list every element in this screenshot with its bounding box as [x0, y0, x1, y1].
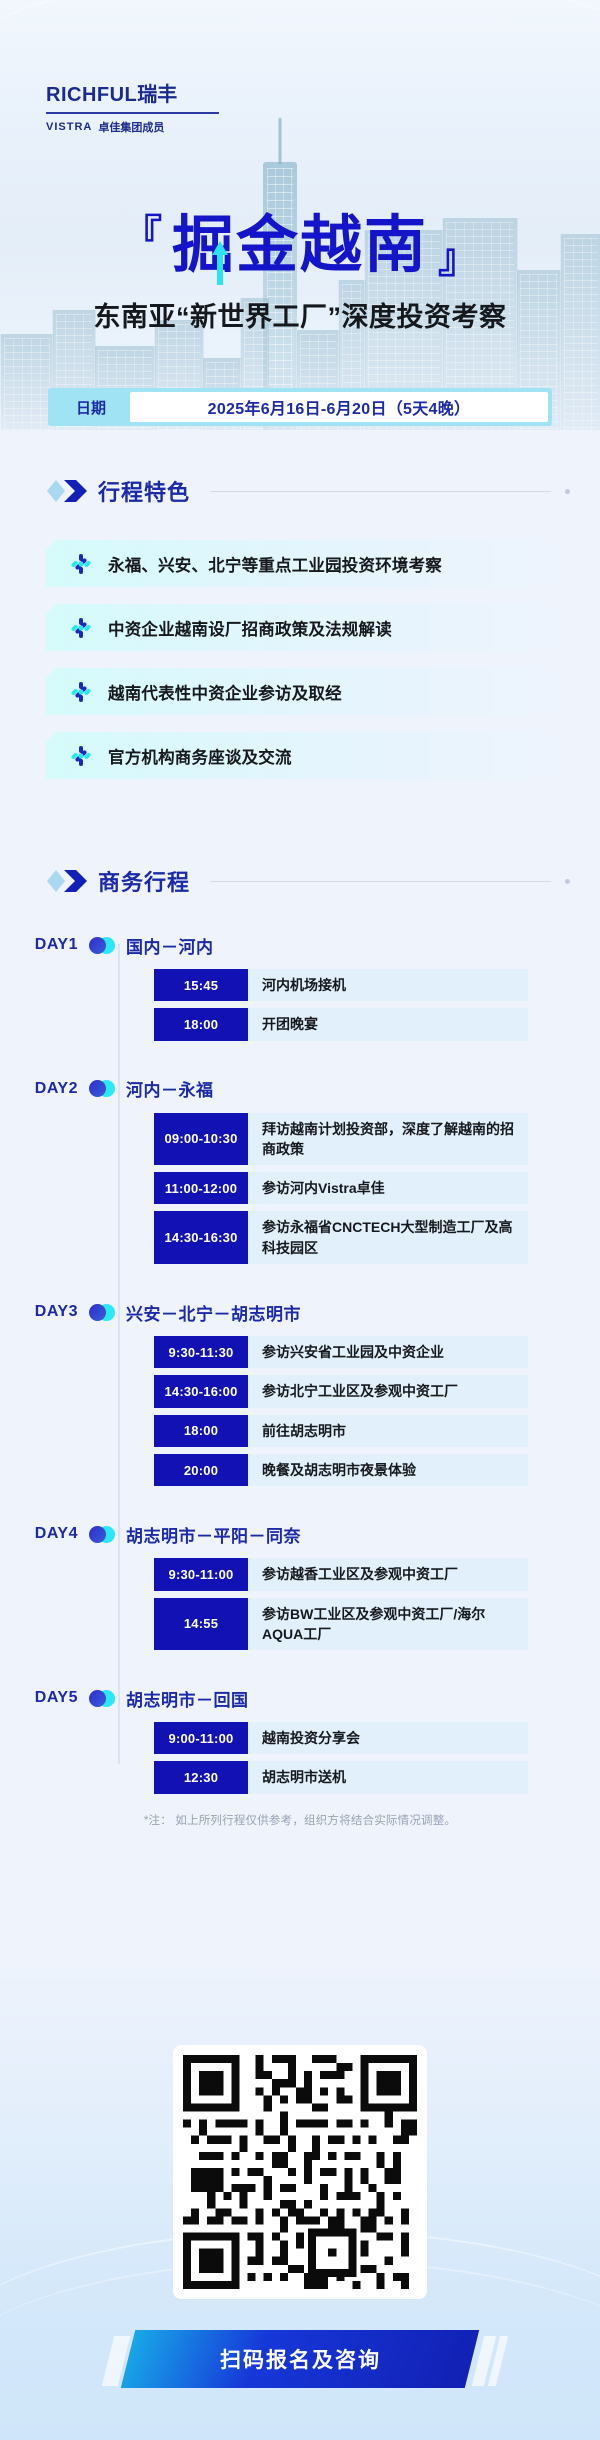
schedule-row: 9:30-11:30 参访兴安省工业园及中资企业	[154, 1336, 528, 1368]
itinerary-list: DAY1 国内－河内 15:45 河内机场接机 18:00 开团晚宴 DAY2 …	[0, 930, 600, 1828]
day-header: DAY1 国内－河内	[0, 930, 600, 960]
schedule-row: 12:30 胡志明市送机	[154, 1761, 528, 1793]
schedule-time: 14:55	[154, 1598, 248, 1651]
day-id: DAY5	[0, 1689, 78, 1707]
schedule-row: 14:30-16:00 参访北宁工业区及参观中资工厂	[154, 1375, 528, 1407]
day-marker-icon	[78, 1080, 126, 1097]
day-id: DAY4	[0, 1525, 78, 1543]
schedule-row: 20:00 晚餐及胡志明市夜景体验	[154, 1454, 528, 1486]
day-route: 河内－永福	[126, 1076, 214, 1101]
cta-container: 扫码报名及咨询	[0, 2330, 600, 2392]
features-heading: 行程特色	[98, 475, 190, 507]
schedule-desc: 参访兴安省工业园及中资企业	[248, 1336, 528, 1368]
footer-section: 扫码报名及咨询	[0, 1960, 600, 2440]
section-rule-dot	[565, 879, 570, 884]
day-rows: 9:30-11:00 参访越香工业区及参观中资工厂 14:55 参访BW工业区及…	[154, 1558, 528, 1650]
schedule-desc: 拜访越南计划投资部，深度了解越南的招商政策	[248, 1113, 528, 1166]
schedule-time: 11:00-12:00	[154, 1172, 248, 1204]
logo-divider	[46, 112, 219, 114]
double-chevron-icon	[46, 870, 88, 892]
schedule-time: 18:00	[154, 1415, 248, 1447]
schedule-desc: 参访BW工业区及参观中资工厂/海尔AQUA工厂	[248, 1598, 528, 1651]
register-cta-label: 扫码报名及咨询	[220, 2344, 381, 2374]
day-marker-icon	[78, 1304, 126, 1321]
schedule-row: 18:00 开团晚宴	[154, 1008, 528, 1040]
schedule-time: 14:30-16:00	[154, 1375, 248, 1407]
hero-title-row: 『 掘金越南 』	[0, 213, 600, 279]
schedule-desc: 晚餐及胡志明市夜景体验	[248, 1454, 528, 1486]
day-id: DAY2	[0, 1080, 78, 1098]
day-header: DAY3 兴安－北宁－胡志明市	[0, 1297, 600, 1327]
schedule-time: 09:00-10:30	[154, 1113, 248, 1166]
logo-primary-en: RICHFUL	[46, 84, 137, 106]
section-rule	[210, 491, 551, 492]
schedule-row: 14:30-16:30 参访永福省CNCTECH大型制造工厂及高科技园区	[154, 1211, 528, 1264]
day-id: DAY3	[0, 1303, 78, 1321]
logo-secondary-en: VISTRA	[46, 121, 92, 133]
date-value: 2025年6月16日-6月20日（5天4晚）	[130, 392, 548, 422]
up-arrow-icon	[212, 241, 228, 285]
schedule-row: 11:00-12:00 参访河内Vistra卓佳	[154, 1172, 528, 1204]
sparkle-icon	[68, 551, 94, 577]
schedule-desc: 河内机场接机	[248, 969, 528, 1001]
schedule-desc: 参访北宁工业区及参观中资工厂	[248, 1375, 528, 1407]
bracket-left: 『	[122, 215, 162, 255]
day-id: DAY1	[0, 936, 78, 954]
feature-label: 永福、兴安、北宁等重点工业园投资环境考察	[108, 552, 442, 576]
feature-item: 越南代表性中资企业参访及取经	[46, 668, 554, 715]
feature-label: 官方机构商务座谈及交流	[108, 744, 292, 768]
itinerary-day: DAY2 河内－永福 09:00-10:30 拜访越南计划投资部，深度了解越南的…	[0, 1074, 600, 1264]
company-logo: RICHFUL瑞丰 VISTRA 卓佳集团成员	[46, 84, 221, 135]
schedule-desc: 参访河内Vistra卓佳	[248, 1172, 528, 1204]
sparkle-icon	[68, 615, 94, 641]
sparkle-icon	[68, 743, 94, 769]
schedule-desc: 开团晚宴	[248, 1008, 528, 1040]
logo-primary-text: RICHFUL瑞丰	[46, 84, 221, 106]
features-list: 永福、兴安、北宁等重点工业园投资环境考察 中资企业越南设厂招商政策及法规解读	[0, 540, 600, 796]
schedule-row: 9:00-11:00 越南投资分享会	[154, 1722, 528, 1754]
day-marker-icon	[78, 937, 126, 954]
itinerary-day: DAY1 国内－河内 15:45 河内机场接机 18:00 开团晚宴	[0, 930, 600, 1041]
day-rows: 09:00-10:30 拜访越南计划投资部，深度了解越南的招商政策 11:00-…	[154, 1113, 528, 1264]
schedule-time: 15:45	[154, 969, 248, 1001]
day-rows: 15:45 河内机场接机 18:00 开团晚宴	[154, 969, 528, 1041]
qr-code[interactable]	[183, 2055, 417, 2289]
page-title-text: 掘金越南	[172, 211, 428, 280]
feature-label: 中资企业越南设厂招商政策及法规解读	[108, 616, 392, 640]
day-header: DAY4 胡志明市－平阳－同奈	[0, 1519, 600, 1549]
day-route: 胡志明市－回国	[126, 1686, 249, 1711]
features-section-header: 行程特色	[0, 475, 600, 507]
day-route: 国内－河内	[126, 933, 214, 958]
day-header: DAY2 河内－永福	[0, 1074, 600, 1104]
day-marker-icon	[78, 1690, 126, 1707]
schedule-time: 9:00-11:00	[154, 1722, 248, 1754]
itinerary-section-header: 商务行程	[0, 865, 600, 897]
itinerary-heading: 商务行程	[98, 865, 190, 897]
day-route: 兴安－北宁－胡志明市	[126, 1300, 301, 1325]
page-title: 掘金越南	[172, 215, 428, 277]
feature-item: 官方机构商务座谈及交流	[46, 732, 554, 779]
schedule-time: 18:00	[154, 1008, 248, 1040]
schedule-time: 12:30	[154, 1761, 248, 1793]
schedule-row: 09:00-10:30 拜访越南计划投资部，深度了解越南的招商政策	[154, 1113, 528, 1166]
schedule-row: 14:55 参访BW工业区及参观中资工厂/海尔AQUA工厂	[154, 1598, 528, 1651]
schedule-time: 20:00	[154, 1454, 248, 1486]
bracket-right: 』	[438, 239, 478, 279]
section-rule-dot	[565, 489, 570, 494]
qr-code-card	[173, 2045, 427, 2299]
schedule-time: 9:30-11:30	[154, 1336, 248, 1368]
day-rows: 9:00-11:00 越南投资分享会 12:30 胡志明市送机	[154, 1722, 528, 1794]
day-header: DAY5 胡志明市－回国	[0, 1683, 600, 1713]
schedule-desc: 参访越香工业区及参观中资工厂	[248, 1558, 528, 1590]
schedule-time: 14:30-16:30	[154, 1211, 248, 1264]
itinerary-day: DAY3 兴安－北宁－胡志明市 9:30-11:30 参访兴安省工业园及中资企业…	[0, 1297, 600, 1486]
day-rows: 9:30-11:30 参访兴安省工业园及中资企业 14:30-16:00 参访北…	[154, 1336, 528, 1486]
sparkle-icon	[68, 679, 94, 705]
day-route: 胡志明市－平阳－同奈	[126, 1522, 301, 1547]
schedule-row: 9:30-11:00 参访越香工业区及参观中资工厂	[154, 1558, 528, 1590]
double-chevron-icon	[46, 480, 88, 502]
feature-item: 永福、兴安、北宁等重点工业园投资环境考察	[46, 540, 554, 587]
schedule-time: 9:30-11:00	[154, 1558, 248, 1590]
date-label: 日期	[52, 397, 130, 418]
schedule-row: 18:00 前往胡志明市	[154, 1415, 528, 1447]
page-subtitle: 东南亚“新世界工厂”深度投资考察	[0, 295, 600, 334]
hero-banner: RICHFUL瑞丰 VISTRA 卓佳集团成员 『 掘金越南 』 东南亚“新世界…	[0, 0, 600, 430]
schedule-desc: 参访永福省CNCTECH大型制造工厂及高科技园区	[248, 1211, 528, 1264]
schedule-desc: 前往胡志明市	[248, 1415, 528, 1447]
day-marker-icon	[78, 1526, 126, 1543]
section-rule	[210, 881, 551, 882]
schedule-desc: 胡志明市送机	[248, 1761, 528, 1793]
logo-primary-cn: 瑞丰	[137, 84, 177, 106]
itinerary-note: *注： 如上所列行程仅供参考，组织方将结合实际情况调整。	[0, 1812, 600, 1828]
logo-secondary: VISTRA 卓佳集团成员	[46, 119, 221, 135]
register-cta-button[interactable]: 扫码报名及咨询	[121, 2330, 479, 2388]
date-badge: 日期 2025年6月16日-6月20日（5天4晚）	[48, 388, 552, 426]
itinerary-day: DAY5 胡志明市－回国 9:00-11:00 越南投资分享会 12:30 胡志…	[0, 1683, 600, 1794]
logo-secondary-cn: 卓佳集团成员	[98, 119, 164, 135]
schedule-row: 15:45 河内机场接机	[154, 969, 528, 1001]
feature-label: 越南代表性中资企业参访及取经	[108, 680, 342, 704]
schedule-desc: 越南投资分享会	[248, 1722, 528, 1754]
itinerary-day: DAY4 胡志明市－平阳－同奈 9:30-11:00 参访越香工业区及参观中资工…	[0, 1519, 600, 1650]
feature-item: 中资企业越南设厂招商政策及法规解读	[46, 604, 554, 651]
